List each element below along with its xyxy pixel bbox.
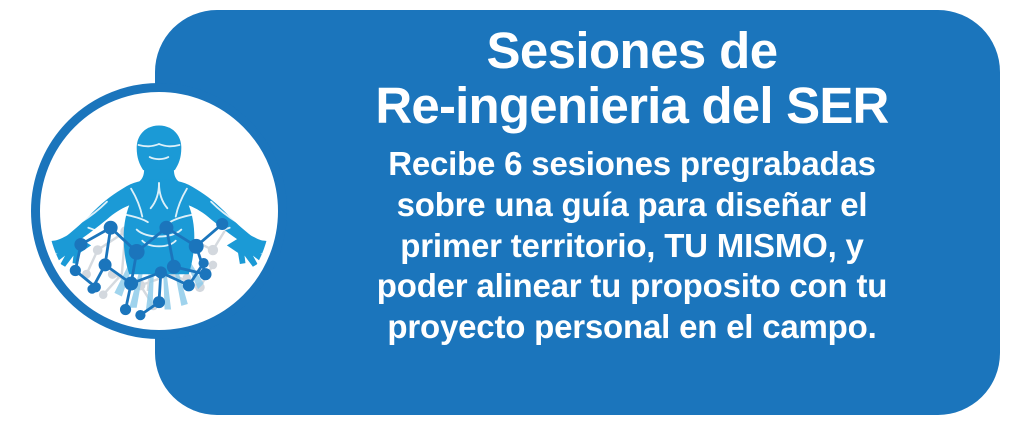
heading-line-2: Re-ingenieria del SER [322, 79, 942, 134]
human-figure-network-icon [40, 92, 278, 330]
body-copy: Recibe 6 sesiones pregrabadas sobre una … [322, 144, 942, 348]
heading-line-1: Sesiones de [322, 24, 942, 79]
body-line: sobre una guía para diseñar el [322, 185, 942, 226]
promo-banner: Sesiones de Re-ingenieria del SER Recibe… [0, 0, 1024, 425]
logo-badge [31, 83, 287, 339]
body-line: poder alinear tu proposito con tu [322, 266, 942, 307]
body-line: proyecto personal en el campo. [322, 307, 942, 348]
body-line: Recibe 6 sesiones pregrabadas [322, 144, 942, 185]
body-line: primer territorio, TU MISMO, y [322, 226, 942, 267]
promo-text-block: Sesiones de Re-ingenieria del SER Recibe… [322, 24, 942, 348]
